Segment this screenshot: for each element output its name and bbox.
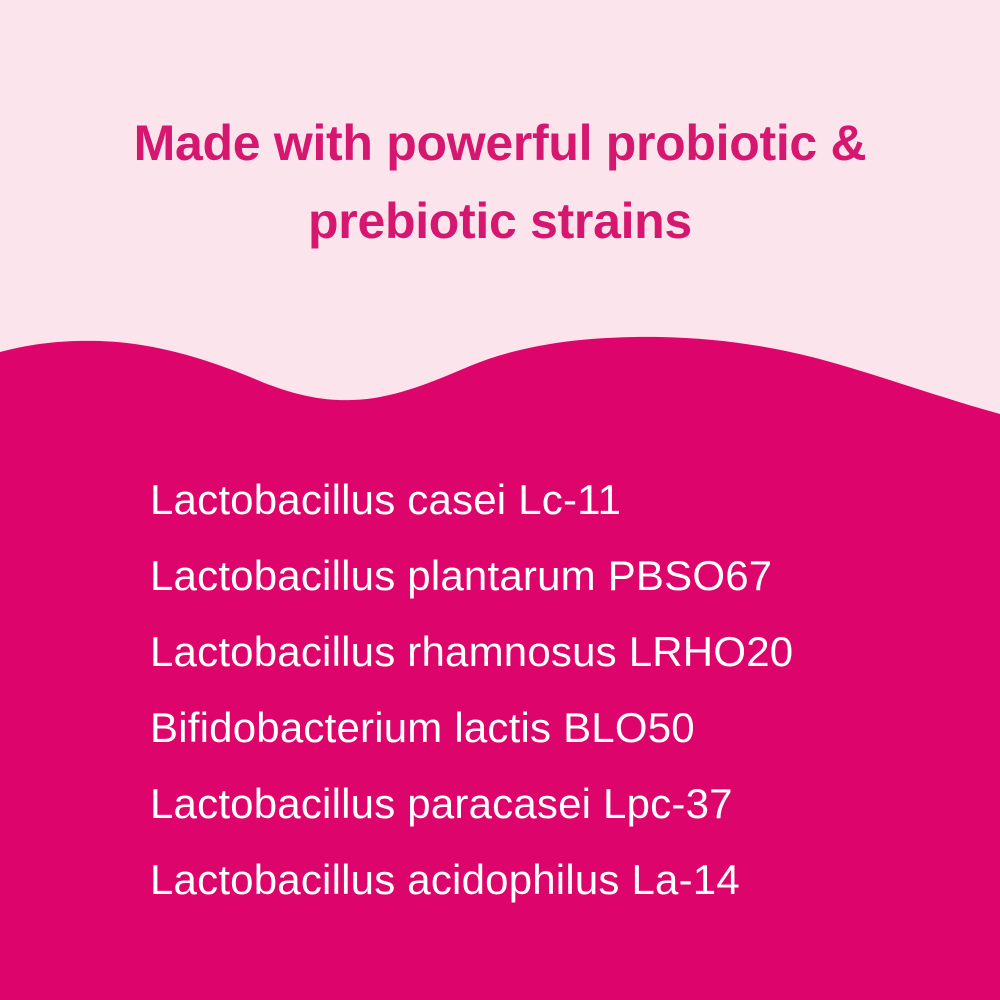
probiotic-strains-poster: Made with powerful probiotic & prebiotic… (0, 0, 1000, 1000)
headline-line-2: prebiotic strains (60, 182, 940, 260)
list-item: Lactobacillus rhamnosus LRHO20 (150, 614, 950, 690)
list-item: Bifidobacterium lactis BLO50 (150, 690, 950, 766)
list-item: Lactobacillus plantarum PBSO67 (150, 538, 950, 614)
page-title: Made with powerful probiotic & prebiotic… (0, 104, 1000, 260)
list-item: Lactobacillus casei Lc-11 (150, 462, 950, 538)
list-item: Lactobacillus paracasei Lpc-37 (150, 766, 950, 842)
strain-list: Lactobacillus casei Lc-11 Lactobacillus … (150, 462, 950, 918)
list-item: Lactobacillus acidophilus La-14 (150, 842, 950, 918)
headline-line-1: Made with powerful probiotic & (60, 104, 940, 182)
